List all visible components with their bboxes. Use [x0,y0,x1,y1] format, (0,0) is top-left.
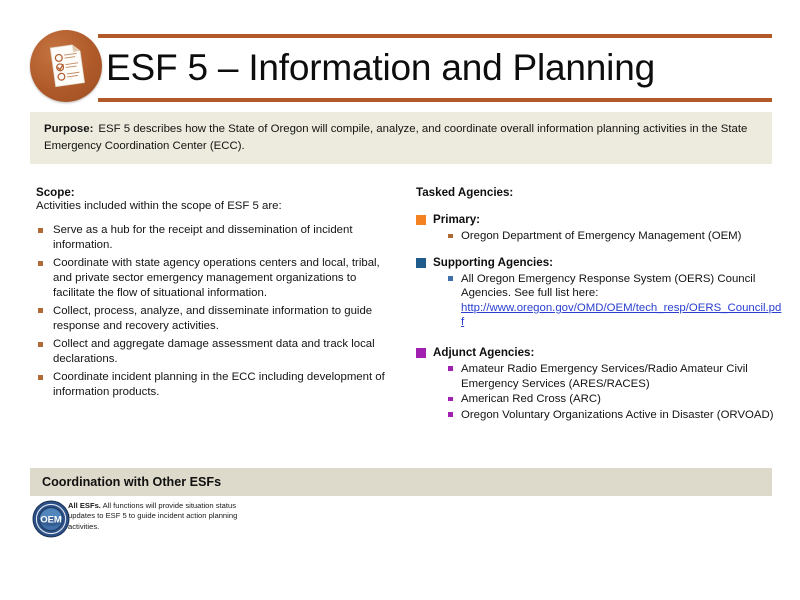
list-item: Collect, process, analyze, and dissemina… [36,304,396,334]
list-item: Coordinate with state agency operations … [36,256,396,300]
agency-group-adjunct: Adjunct Agencies: Amateur Radio Emergenc… [416,346,782,422]
purpose-text: Purpose:ESF 5 describes how the State of… [44,121,760,154]
list-item: All Oregon Emergency Response System (OE… [448,272,782,330]
agency-group-supporting: Supporting Agencies: All Oregon Emergenc… [416,256,782,330]
slide-page: ESF 5 – Information and Planning Purpose… [0,0,800,600]
primary-agency-list: Oregon Department of Emergency Managemen… [433,229,782,244]
header-rule-bottom [98,98,772,102]
agency-group-title: Adjunct Agencies: [433,346,782,360]
tasked-agencies-column: Tasked Agencies: Primary: Oregon Departm… [416,186,782,434]
agency-group-primary: Primary: Oregon Department of Emergency … [416,213,782,244]
list-item: Coordinate incident planning in the ECC … [36,370,396,400]
svg-text:OEM: OEM [40,514,62,525]
page-header: ESF 5 – Information and Planning [30,28,772,106]
supporting-marker-icon [416,258,426,268]
checklist-document-icon [30,30,102,102]
scope-column: Scope: Activities included within the sc… [36,186,396,403]
adjunct-marker-icon [416,348,426,358]
purpose-body: ESF 5 describes how the State of Oregon … [44,123,747,152]
list-item: Oregon Department of Emergency Managemen… [448,229,782,244]
agency-group-title: Primary: [433,213,782,227]
scope-heading: Scope: [36,186,396,199]
purpose-box: Purpose:ESF 5 describes how the State of… [30,112,772,164]
header-rule-top [98,34,772,38]
purpose-label: Purpose: [44,123,93,135]
scope-intro: Activities included within the scope of … [36,200,396,212]
list-item: Serve as a hub for the receipt and disse… [36,223,396,253]
list-item: Oregon Voluntary Organizations Active in… [448,408,782,423]
tasked-agencies-heading: Tasked Agencies: [416,186,782,199]
list-item: Amateur Radio Emergency Services/Radio A… [448,362,782,391]
agency-group-title: Supporting Agencies: [433,256,782,270]
scope-list: Serve as a hub for the receipt and disse… [36,223,396,400]
coordination-entry-label: All ESFs. [68,501,101,510]
list-item-text: All Oregon Emergency Response System (OE… [461,273,755,300]
oem-seal-icon: OEM [32,500,70,538]
coordination-entry-text: All ESFs. All functions will provide sit… [68,501,248,532]
oers-council-link[interactable]: http://www.oregon.gov/OMD/OEM/tech_resp/… [461,302,781,329]
coordination-bar-title: Coordination with Other ESFs [42,468,221,496]
primary-marker-icon [416,215,426,225]
supporting-agency-list: All Oregon Emergency Response System (OE… [433,272,782,330]
adjunct-agency-list: Amateur Radio Emergency Services/Radio A… [433,362,782,422]
list-item: Collect and aggregate damage assessment … [36,337,396,367]
page-title: ESF 5 – Information and Planning [106,40,772,96]
coordination-bar: Coordination with Other ESFs [30,468,772,496]
list-item: American Red Cross (ARC) [448,392,782,407]
